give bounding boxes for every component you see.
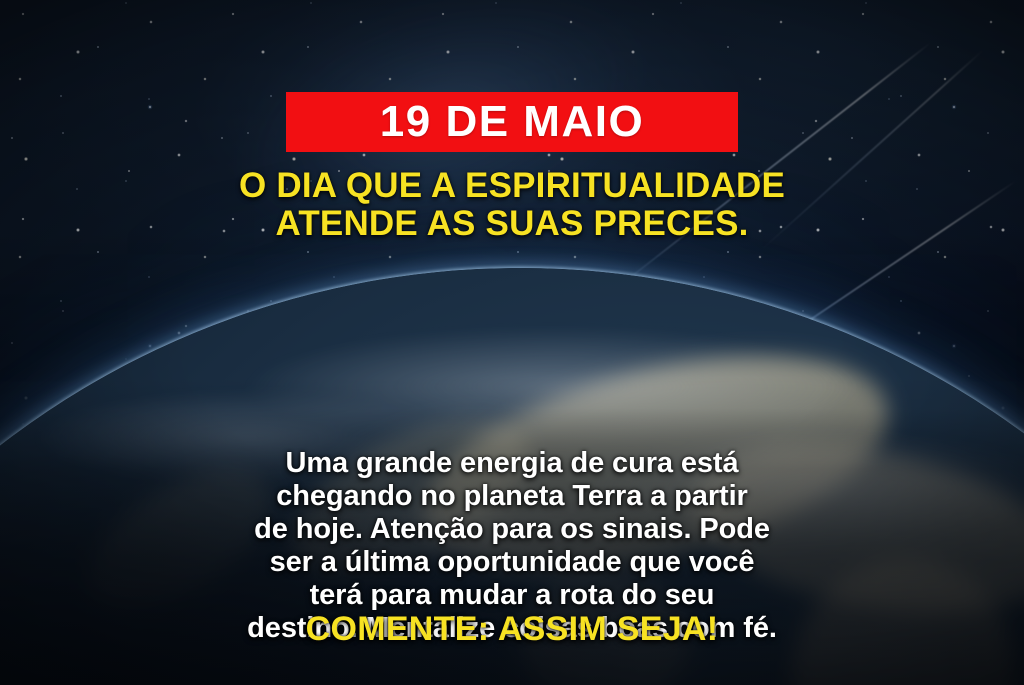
body-line-5: terá para mudar a rota do seu [22, 579, 1002, 612]
date-banner-text: 19 DE MAIO [380, 100, 644, 144]
headline: O DIA QUE A ESPIRITUALIDADE ATENDE AS SU… [0, 167, 1024, 243]
headline-line-2: ATENDE AS SUAS PRECES. [40, 205, 984, 243]
poster-image: 19 DE MAIO O DIA QUE A ESPIRITUALIDADE A… [0, 0, 1024, 685]
poster-content: 19 DE MAIO O DIA QUE A ESPIRITUALIDADE A… [0, 0, 1024, 685]
body-line-4: ser a última oportunidade que você [22, 546, 1002, 579]
call-to-action-text: COMENTE: ASSIM SEJA! [0, 612, 1024, 646]
headline-line-1: O DIA QUE A ESPIRITUALIDADE [40, 167, 984, 205]
body-line-1: Uma grande energia de cura está [22, 447, 1002, 480]
body-line-2: chegando no planeta Terra a partir [22, 480, 1002, 513]
body-line-3: de hoje. Atenção para os sinais. Pode [22, 513, 1002, 546]
date-banner: 19 DE MAIO [286, 92, 738, 152]
